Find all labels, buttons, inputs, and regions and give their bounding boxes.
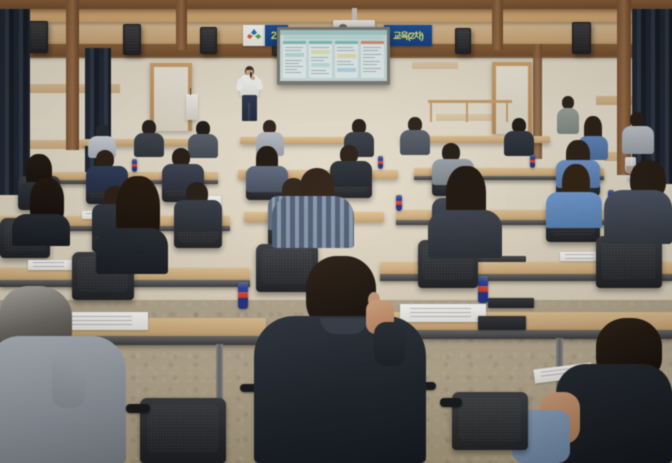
person-r3-6-body (546, 192, 602, 228)
wall-speaker-2 (123, 24, 141, 55)
slide-column-3-box (337, 54, 356, 58)
stage-handrail (428, 100, 512, 103)
beverage-bottle-r2-a (238, 282, 248, 309)
slide-subtitle-bar (284, 36, 383, 39)
slide-column-1-box (285, 53, 304, 57)
handout-r1-b (400, 304, 486, 322)
projection-screen-surface (280, 30, 387, 81)
presenter-legs (242, 95, 257, 121)
person-r5-3-body (188, 134, 218, 158)
standing-person-body (557, 108, 579, 134)
lectern-microphone-icon (190, 88, 191, 95)
institution-logo-icon (246, 28, 262, 43)
ceiling-post-right (492, 0, 503, 50)
person-r3-3-body (174, 200, 222, 232)
chair-aisle-left (140, 398, 226, 463)
chair-arm-aisle-right (440, 398, 462, 407)
beverage-bottle-r4-a (132, 159, 137, 172)
wall-speaker-1 (29, 21, 48, 53)
person-r2-3-body (428, 210, 502, 258)
slide-column-4-header (361, 41, 384, 44)
wall-speaker-6 (572, 22, 591, 54)
person-fg-left-arm (52, 352, 86, 408)
banner-right-text: 교육(2차) (393, 29, 423, 42)
laptop-r1 (478, 316, 526, 330)
slide-title-bar (280, 30, 387, 35)
person-r5-6-body (400, 130, 430, 155)
banner-logo (243, 25, 265, 46)
person-r2-1-body (96, 228, 168, 274)
banner-right: 교육(2차) (384, 25, 432, 46)
person-r2-2-body (272, 196, 354, 248)
ceiling-beam-back (0, 0, 672, 9)
handout-r2-a (28, 260, 72, 270)
person-r4-5-body (330, 161, 372, 187)
person-r5-7-body (504, 131, 534, 156)
slide-column-1 (283, 41, 306, 78)
wall-post-left (66, 0, 79, 150)
curtain-right (632, 9, 672, 184)
slide-column-2-header (309, 41, 332, 44)
table-leg-left (216, 344, 223, 400)
beverage-bottle-r4-b (378, 156, 383, 169)
chair-arm-aisle-left (126, 404, 150, 413)
slide-column-2 (309, 41, 332, 78)
person-r5-9-head (630, 112, 644, 127)
projection-screen (277, 27, 390, 85)
beverage-bottle-r4-c (530, 155, 535, 168)
beverage-bottle-r2-b (478, 276, 488, 303)
laptop-r2 (488, 298, 534, 308)
beverage-bottle-r3-a (396, 195, 402, 211)
presenter-hand (251, 76, 255, 80)
ceiling-post-left (176, 0, 187, 50)
person-r3-1-body (12, 214, 70, 246)
person-r5-2-body (134, 133, 164, 157)
handrail-post-3 (506, 100, 508, 122)
slide-column-3-header (335, 41, 358, 44)
wall-band-5 (412, 62, 458, 69)
handrail-post-1 (430, 100, 432, 122)
door-left-leaf[interactable] (154, 67, 188, 131)
handrail-post-2 (466, 100, 468, 122)
person-fg-center-forearm (374, 322, 406, 366)
slide-column-4 (361, 41, 384, 78)
person-r2-4-body (604, 190, 672, 244)
handout-r1-a (60, 312, 148, 330)
slide-column-3 (335, 41, 358, 78)
person-r5-9-body (622, 126, 654, 154)
wall-speaker-3 (200, 27, 217, 54)
wall-speaker-5 (455, 28, 471, 54)
slide-column-1-header (283, 41, 306, 44)
chair-aisle-right (452, 392, 528, 450)
lectern (186, 94, 198, 120)
slide-column-2-box (311, 50, 330, 54)
seminar-room-photo: 20 교육(2차) (0, 0, 672, 463)
